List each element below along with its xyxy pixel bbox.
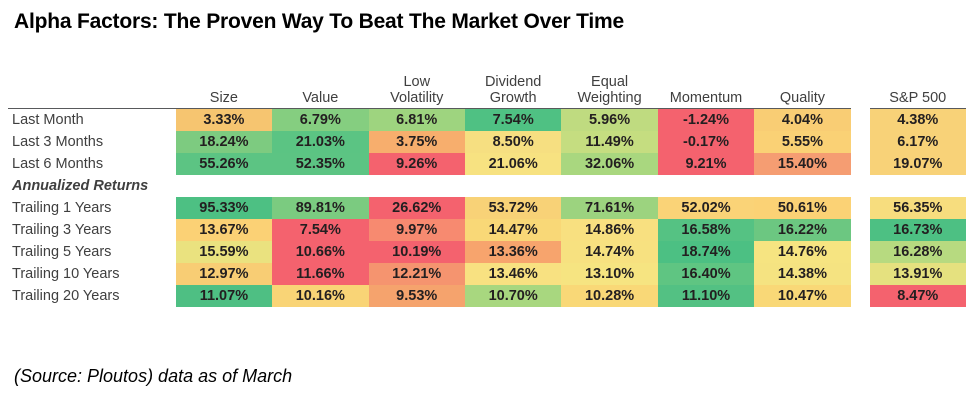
cell-trailing-20-years-value: 10.16% [272,285,368,307]
cell-gap-spacer [851,219,870,241]
cell-last-3-months-value: 21.03% [272,131,368,153]
cell-last-month-momentum: -1.24% [658,109,754,132]
cell-last-3-months-equal-weighting: 11.49% [561,131,657,153]
cell-last-3-months-sp-500: 6.17% [870,131,967,153]
cell-empty [369,175,465,197]
cell-last-3-months-size: 18.24% [176,131,272,153]
cell-trailing-10-years-low-volatility: 12.21% [369,263,465,285]
column-header-value: Value [272,62,368,109]
cell-trailing-1-years-momentum: 52.02% [658,197,754,219]
cell-trailing-1-years-equal-weighting: 71.61% [561,197,657,219]
row-label-last-6-months: Last 6 Months [8,153,176,175]
header-line-2: Weighting [577,90,641,106]
cell-trailing-10-years-momentum: 16.40% [658,263,754,285]
row-label-last-3-months: Last 3 Months [8,131,176,153]
table-body: Last Month3.33%6.79%6.81%7.54%5.96%-1.24… [8,109,966,308]
cell-last-month-equal-weighting: 5.96% [561,109,657,132]
cell-trailing-10-years-sp-500: 13.91% [870,263,967,285]
source-note: (Source: Ploutos) data as of March [14,366,292,387]
cell-trailing-1-years-dividend-growth: 53.72% [465,197,561,219]
row-label-trailing-5-years: Trailing 5 Years [8,241,176,263]
column-header-low-volatility: Low Volatility [369,62,465,109]
cell-trailing-5-years-low-volatility: 10.19% [369,241,465,263]
cell-last-month-low-volatility: 6.81% [369,109,465,132]
cell-trailing-10-years-equal-weighting: 13.10% [561,263,657,285]
cell-empty [851,175,870,197]
cell-trailing-5-years-dividend-growth: 13.36% [465,241,561,263]
cell-trailing-20-years-quality: 10.47% [754,285,850,307]
cell-trailing-3-years-equal-weighting: 14.86% [561,219,657,241]
cell-empty [754,175,850,197]
row-label-last-month: Last Month [8,109,176,132]
cell-empty [176,175,272,197]
row-label-trailing-10-years: Trailing 10 Years [8,263,176,285]
row-label-trailing-20-years: Trailing 20 Years [8,285,176,307]
cell-empty [561,175,657,197]
cell-empty [272,175,368,197]
performance-heatmap-table: Size Value Low Volatility Dividend Growt… [8,62,966,307]
cell-trailing-3-years-value: 7.54% [272,219,368,241]
cell-gap-spacer [851,241,870,263]
cell-trailing-10-years-value: 11.66% [272,263,368,285]
column-header-equal-weighting: Equal Weighting [561,62,657,109]
cell-gap-spacer [851,153,870,175]
header-line-2: Quality [780,90,825,106]
cell-trailing-20-years-sp-500: 8.47% [870,285,967,307]
cell-trailing-20-years-momentum: 11.10% [658,285,754,307]
cell-last-3-months-dividend-growth: 8.50% [465,131,561,153]
cell-last-6-months-equal-weighting: 32.06% [561,153,657,175]
cell-trailing-5-years-size: 15.59% [176,241,272,263]
cell-empty [465,175,561,197]
cell-last-month-sp-500: 4.38% [870,109,967,132]
alpha-factors-heatmap-figure: Alpha Factors: The Proven Way To Beat Th… [0,0,980,418]
cell-trailing-1-years-low-volatility: 26.62% [369,197,465,219]
column-gap-spacer [851,62,870,109]
cell-trailing-1-years-size: 95.33% [176,197,272,219]
cell-gap-spacer [851,197,870,219]
cell-last-month-quality: 4.04% [754,109,850,132]
cell-last-6-months-size: 55.26% [176,153,272,175]
cell-gap-spacer [851,131,870,153]
column-header-sp500: S&P 500 [870,62,967,109]
cell-trailing-20-years-equal-weighting: 10.28% [561,285,657,307]
cell-trailing-3-years-dividend-growth: 14.47% [465,219,561,241]
cell-last-3-months-momentum: -0.17% [658,131,754,153]
cell-trailing-1-years-quality: 50.61% [754,197,850,219]
column-header-dividend-growth: Dividend Growth [465,62,561,109]
cell-trailing-10-years-quality: 14.38% [754,263,850,285]
header-line-1: Low [403,74,430,90]
cell-trailing-10-years-size: 12.97% [176,263,272,285]
cell-trailing-20-years-dividend-growth: 10.70% [465,285,561,307]
cell-last-6-months-low-volatility: 9.26% [369,153,465,175]
cell-empty [658,175,754,197]
cell-last-6-months-dividend-growth: 21.06% [465,153,561,175]
cell-trailing-20-years-low-volatility: 9.53% [369,285,465,307]
row-label-trailing-1-years: Trailing 1 Years [8,197,176,219]
cell-gap-spacer [851,285,870,307]
cell-last-month-dividend-growth: 7.54% [465,109,561,132]
cell-last-6-months-momentum: 9.21% [658,153,754,175]
cell-last-6-months-value: 52.35% [272,153,368,175]
cell-trailing-20-years-size: 11.07% [176,285,272,307]
header-line-2: S&P 500 [889,90,946,106]
cell-trailing-1-years-sp-500: 56.35% [870,197,967,219]
row-label-trailing-3-years: Trailing 3 Years [8,219,176,241]
cell-gap-spacer [851,109,870,132]
cell-trailing-3-years-momentum: 16.58% [658,219,754,241]
cell-last-3-months-low-volatility: 3.75% [369,131,465,153]
table-row: Trailing 1 Years95.33%89.81%26.62%53.72%… [8,197,966,219]
section-label-row: Annualized Returns [8,175,966,197]
cell-trailing-1-years-value: 89.81% [272,197,368,219]
page-title: Alpha Factors: The Proven Way To Beat Th… [14,10,624,34]
cell-trailing-5-years-sp-500: 16.28% [870,241,967,263]
header-line-2: Value [302,90,338,106]
cell-trailing-3-years-size: 13.67% [176,219,272,241]
cell-gap-spacer [851,263,870,285]
table-header-row: Size Value Low Volatility Dividend Growt… [8,62,966,109]
cell-empty [870,175,967,197]
table-row: Last 6 Months55.26%52.35%9.26%21.06%32.0… [8,153,966,175]
header-line-2: Size [210,90,238,106]
cell-trailing-5-years-value: 10.66% [272,241,368,263]
header-line-2: Growth [490,90,537,106]
column-header-quality: Quality [754,62,850,109]
cell-last-month-size: 3.33% [176,109,272,132]
table-row: Trailing 20 Years11.07%10.16%9.53%10.70%… [8,285,966,307]
cell-trailing-5-years-quality: 14.76% [754,241,850,263]
cell-trailing-3-years-sp-500: 16.73% [870,219,967,241]
cell-trailing-10-years-dividend-growth: 13.46% [465,263,561,285]
table-row: Trailing 10 Years12.97%11.66%12.21%13.46… [8,263,966,285]
header-line-1: Equal [591,74,628,90]
header-line-2: Momentum [670,90,743,106]
column-header-rowlabel [8,62,176,109]
cell-trailing-3-years-low-volatility: 9.97% [369,219,465,241]
cell-last-6-months-sp-500: 19.07% [870,153,967,175]
header-line-2: Volatility [390,90,443,106]
column-header-size: Size [176,62,272,109]
cell-last-3-months-quality: 5.55% [754,131,850,153]
column-header-momentum: Momentum [658,62,754,109]
cell-trailing-5-years-momentum: 18.74% [658,241,754,263]
cell-last-6-months-quality: 15.40% [754,153,850,175]
section-label-annualized-returns: Annualized Returns [8,175,176,197]
table-row: Last Month3.33%6.79%6.81%7.54%5.96%-1.24… [8,109,966,132]
table-row: Last 3 Months18.24%21.03%3.75%8.50%11.49… [8,131,966,153]
cell-trailing-3-years-quality: 16.22% [754,219,850,241]
cell-trailing-5-years-equal-weighting: 14.74% [561,241,657,263]
header-line-1: Dividend [485,74,541,90]
cell-last-month-value: 6.79% [272,109,368,132]
table-row: Trailing 3 Years13.67%7.54%9.97%14.47%14… [8,219,966,241]
table-row: Trailing 5 Years15.59%10.66%10.19%13.36%… [8,241,966,263]
